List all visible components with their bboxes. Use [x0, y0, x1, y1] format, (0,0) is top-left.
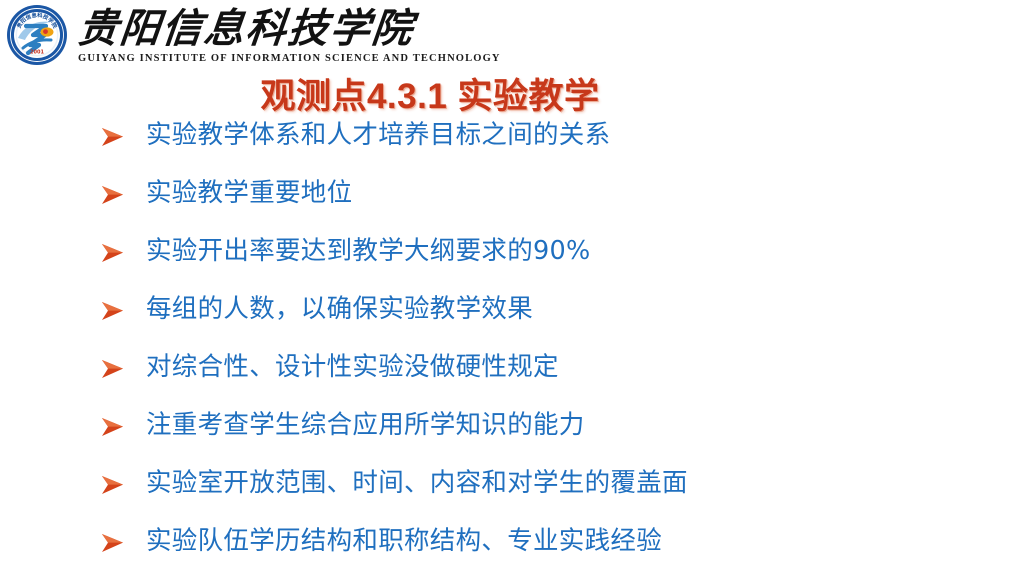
- bullet-item: 对综合性、设计性实验没做硬性规定: [100, 350, 1004, 408]
- bullet-item: 实验室开放范围、时间、内容和对学生的覆盖面: [100, 466, 1004, 524]
- bullet-list: 实验教学体系和人才培养目标之间的关系 实验教学重要地位 实验开出率要达到教学大纲…: [100, 118, 1004, 576]
- arrow-bullet-icon: [100, 408, 146, 444]
- slide-title: 观测点4.3.1 实验教学: [0, 68, 860, 119]
- arrow-bullet-icon: [100, 524, 146, 560]
- arrow-bullet-icon: [100, 118, 146, 154]
- bullet-text: 实验教学体系和人才培养目标之间的关系: [146, 118, 610, 152]
- presentation-slide: 2001 贵阳信息科技学院 贵阳信息科技学院 GUIYANG INSTITUTE…: [0, 0, 1024, 576]
- bullet-text: 实验教学重要地位: [146, 176, 352, 210]
- bullet-text: 实验室开放范围、时间、内容和对学生的覆盖面: [146, 466, 688, 500]
- arrow-bullet-icon: [100, 292, 146, 328]
- arrow-bullet-icon: [100, 466, 146, 502]
- bullet-item: 实验开出率要达到教学大纲要求的90%: [100, 234, 1004, 292]
- bullet-text: 注重考查学生综合应用所学知识的能力: [146, 408, 585, 442]
- bullet-item: 实验队伍学历结构和职称结构、专业实践经验: [100, 524, 1004, 576]
- bullet-text: 对综合性、设计性实验没做硬性规定: [146, 350, 559, 384]
- bullet-text: 实验开出率要达到教学大纲要求的90%: [146, 234, 591, 268]
- brand-wordmark: 贵阳信息科技学院 GUIYANG INSTITUTE OF INFORMATIO…: [78, 6, 501, 65]
- arrow-bullet-icon: [100, 350, 146, 386]
- arrow-bullet-icon: [100, 234, 146, 270]
- arrow-bullet-icon: [100, 176, 146, 212]
- brand-header: 2001 贵阳信息科技学院 贵阳信息科技学院 GUIYANG INSTITUTE…: [0, 0, 501, 70]
- school-name-english: GUIYANG INSTITUTE OF INFORMATION SCIENCE…: [78, 54, 501, 65]
- bullet-text: 每组的人数，以确保实验教学效果: [146, 292, 533, 326]
- bullet-item: 注重考查学生综合应用所学知识的能力: [100, 408, 1004, 466]
- bullet-item: 实验教学重要地位: [100, 176, 1004, 234]
- school-name-chinese: 贵阳信息科技学院: [76, 8, 503, 50]
- bullet-text: 实验队伍学历结构和职称结构、专业实践经验: [146, 524, 662, 558]
- svg-text:2001: 2001: [30, 50, 44, 56]
- university-seal-icon: 2001 贵阳信息科技学院: [6, 4, 68, 66]
- bullet-item: 实验教学体系和人才培养目标之间的关系: [100, 118, 1004, 176]
- bullet-item: 每组的人数，以确保实验教学效果: [100, 292, 1004, 350]
